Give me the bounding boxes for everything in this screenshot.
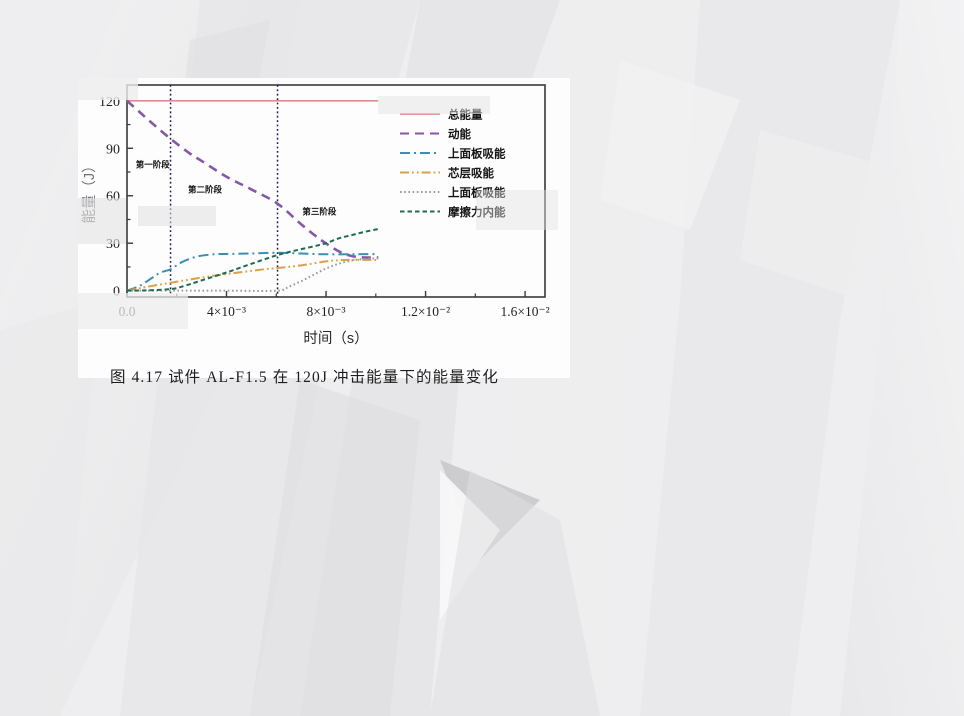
- x-tick-label: 4×10⁻³: [207, 304, 246, 319]
- legend-label: 总能量: [448, 108, 483, 122]
- x-tick-label: 1.2×10⁻²: [401, 304, 450, 319]
- x-axis-title: 时间（s）: [303, 330, 368, 347]
- energy-time-chart: 0.04×10⁻³8×10⁻³1.2×10⁻²1.6×10⁻² 03060901…: [78, 78, 570, 378]
- legend-label: 上面板吸能: [448, 147, 506, 161]
- figure-caption: 图 4.17 试件 AL-F1.5 在 120J 冲击能量下的能量变化: [110, 365, 499, 387]
- stage-label: 第一阶段: [136, 159, 171, 169]
- legend-label: 上面板吸能: [448, 186, 506, 200]
- legend-label: 摩擦力内能: [448, 205, 506, 219]
- y-axis-title: 能量（J）: [81, 158, 98, 223]
- y-tick-label: 60: [106, 190, 120, 205]
- y-tick-label: 90: [106, 142, 120, 157]
- x-tick-label: 1.6×10⁻²: [501, 304, 550, 319]
- x-tick-label: 0.0: [119, 304, 136, 319]
- y-tick-label: 30: [106, 237, 120, 252]
- y-tick-label: 120: [99, 95, 120, 110]
- stage-label: 第三阶段: [302, 207, 337, 217]
- figure-container: 0.04×10⁻³8×10⁻³1.2×10⁻²1.6×10⁻² 03060901…: [78, 78, 570, 378]
- legend-label: 动能: [448, 127, 471, 141]
- x-tick-label: 8×10⁻³: [307, 304, 346, 319]
- legend-label: 芯层吸能: [448, 166, 494, 180]
- chart-figure: 0.04×10⁻³8×10⁻³1.2×10⁻²1.6×10⁻² 03060901…: [78, 78, 570, 378]
- y-tick-label: 0: [113, 285, 120, 300]
- stage-label: 第二阶段: [188, 185, 223, 195]
